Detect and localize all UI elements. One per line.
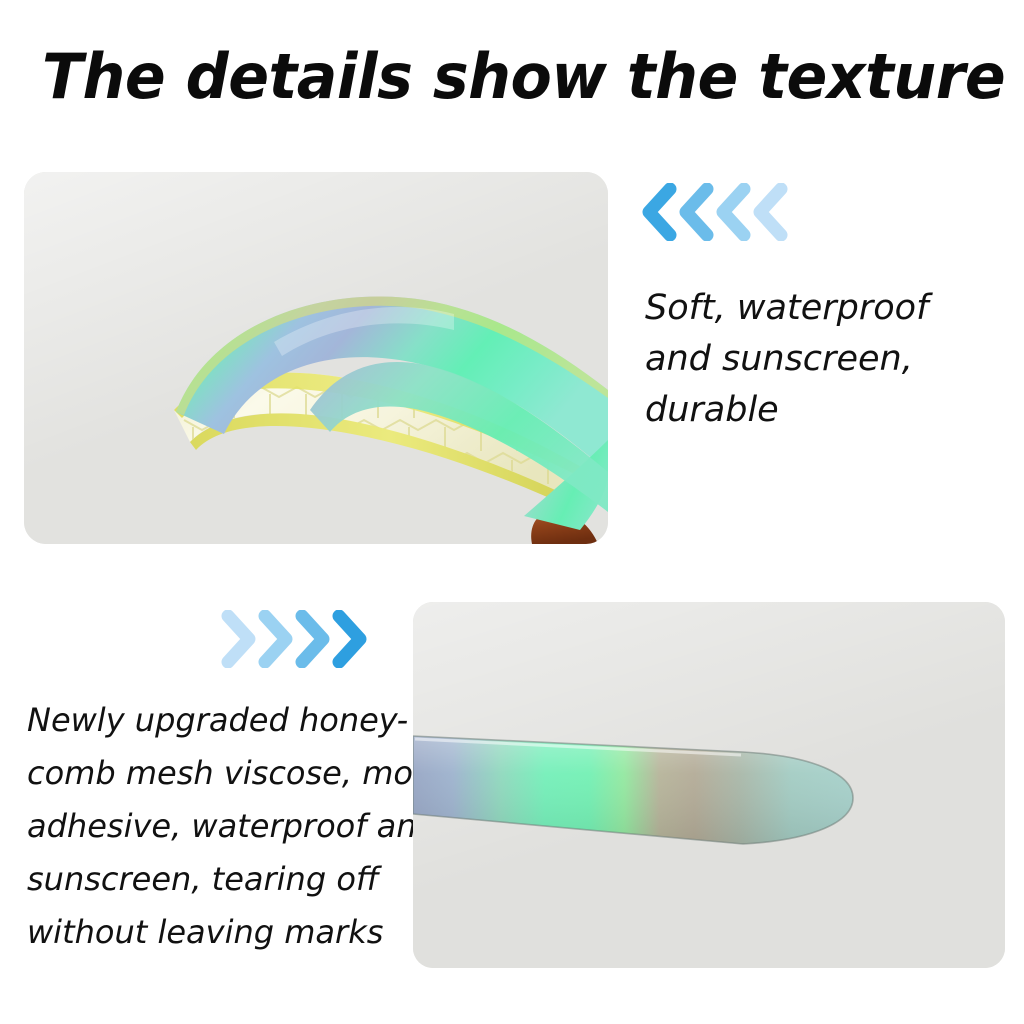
tape-loop-illustration xyxy=(24,172,608,544)
caption-soft-waterproof: Soft, waterproof and sunscreen, durable xyxy=(645,283,1005,436)
caption-line: adhesive, waterproof and xyxy=(27,800,399,853)
caption-line: and sunscreen, xyxy=(645,334,1005,385)
page-title: The details show the texture xyxy=(42,42,964,112)
chevrons-pointing-left xyxy=(637,179,797,245)
chevrons-pointing-right xyxy=(216,606,376,672)
tape-strip-illustration xyxy=(413,602,1005,968)
chevron-right-icon-4 xyxy=(327,610,370,668)
caption-line: Newly upgraded honey- xyxy=(27,694,399,747)
holographic-tape-strip-photo xyxy=(413,602,1005,968)
caption-line: without leaving marks xyxy=(27,906,399,959)
infographic-page: The details show the texture xyxy=(0,0,1024,1024)
chevron-left-icon-4 xyxy=(748,183,791,241)
caption-line: sunscreen, tearing off xyxy=(27,853,399,906)
caption-honeycomb-mesh: Newly upgraded honey- comb mesh viscose,… xyxy=(27,694,399,959)
caption-line: comb mesh viscose, more xyxy=(27,747,399,800)
holographic-tape-loop-photo xyxy=(24,172,608,544)
caption-line: durable xyxy=(645,385,1005,436)
caption-line: Soft, waterproof xyxy=(645,283,1005,334)
